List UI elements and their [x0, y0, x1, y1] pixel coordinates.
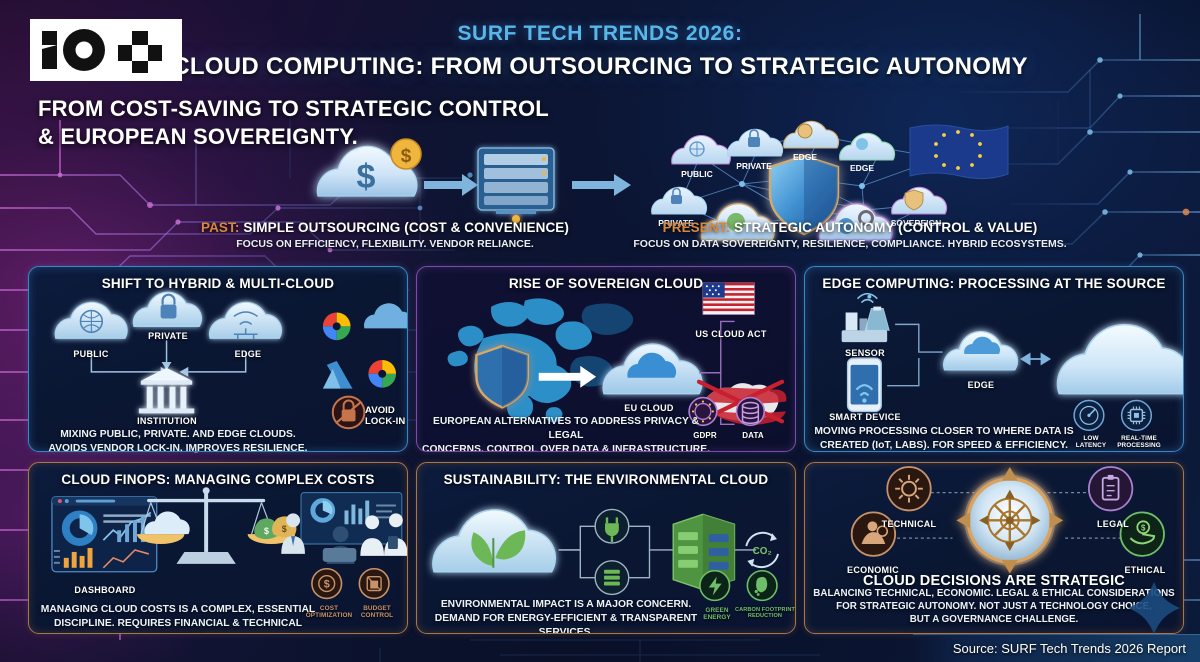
card-2-description: EUROPEAN ALTERNATIVES TO ADDRESS PRIVACY… [421, 415, 711, 452]
card-4-description: MANAGING CLOUD COSTS IS A COMPLEX, ESSEN… [33, 603, 323, 634]
svg-text:$: $ [324, 579, 330, 591]
present-sub: FOCUS ON DATA SOVEREIGNTY, RESILIENCE, C… [600, 238, 1100, 250]
present-headline: STRATEGIC AUTONOMY (CONTROL & VALUE) [730, 220, 1037, 235]
hero-label-public: PUBLIC [681, 169, 713, 179]
source-text: Source: SURF Tech Trends 2026 Report [953, 641, 1186, 656]
card-1-badge-avoid-lockin: AVOID LOCK-IN [365, 406, 408, 428]
subtitle-line-1: FROM COST-SAVING TO STRATEGIC CONTROL [38, 95, 549, 123]
caption-present: PRESENT: STRATEGIC AUTONOMY (CONTROL & V… [600, 220, 1100, 250]
svg-text:$: $ [264, 526, 269, 536]
card-5-description: ENVIRONMENTAL IMPACT IS A MAJOR CONCERN.… [421, 598, 711, 634]
card-1-label-private: PRIVATE [148, 331, 188, 341]
card-3-label-sensor: SENSOR [845, 348, 885, 358]
card-1-label-institution: INSTITUTION [137, 416, 197, 426]
card-3-badge-realtime-processing: REAL-TIME PROCESSING [1111, 433, 1167, 450]
past-headline: SIMPLE OUTSOURCING (COST & CONVENIENCE) [239, 220, 569, 235]
card-3-artwork [805, 267, 1183, 451]
card-4-badge-budget-control: BUDGET CONTROL [349, 603, 405, 620]
card-1-label-public: PUBLIC [73, 349, 108, 359]
card-6-description: BALANCING TECHNICAL, ECONOMIC. LEGAL & E… [807, 587, 1181, 627]
card-3-label-smart-device: SMART DEVICE [829, 412, 901, 422]
card-6-label-technical: TECHNICAL [882, 519, 937, 529]
past-tag: PAST: [201, 220, 240, 235]
card-shift-hybrid-multicloud[interactable]: SHIFT TO HYBRID & MULTI-CLOUD [28, 266, 408, 452]
past-sub: FOCUS ON EFFICIENCY, FLEXIBILITY. VENDOR… [175, 238, 595, 250]
card-6-label-legal: LEGAL [1097, 519, 1129, 529]
card-cloud-finops[interactable]: CLOUD FINOPS: MANAGING COMPLEX COSTS [28, 462, 408, 634]
card-2-label-us-cloud-act: US CLOUD ACT [695, 329, 766, 339]
svg-text:$: $ [282, 524, 287, 534]
card-edge-computing[interactable]: EDGE COMPUTING: PROCESSING AT THE SOURCE [804, 266, 1184, 452]
card-1-artwork [29, 267, 407, 451]
card-1-label-edge: EDGE [235, 349, 262, 359]
card-2-badge-data: DATA [725, 429, 781, 440]
corner-diamond-decoration [1126, 580, 1182, 636]
caption-past: PAST: SIMPLE OUTSOURCING (COST & CONVENI… [175, 220, 595, 250]
hero-label-edge-1: EDGE [793, 152, 817, 162]
hero-label-edge-2: EDGE [850, 163, 874, 173]
card-2-label-eu-cloud: EU CLOUD [624, 403, 673, 413]
subtitle-line-2: & EUROPEAN SOVEREIGNTY. [38, 123, 549, 151]
card-1-description: MIXING PUBLIC, PRIVATE. AND EDGE CLOUDS.… [33, 428, 323, 452]
surf-logo [30, 19, 182, 81]
svg-text:$: $ [1141, 524, 1146, 533]
svg-text:$: $ [357, 158, 376, 196]
card-5-badge-carbon-footprint-reduction: CARBON FOOTPRINT REDUCTION [733, 605, 796, 620]
svg-text:CO₂: CO₂ [753, 546, 772, 557]
source-bar: Source: SURF Tech Trends 2026 Report [913, 634, 1200, 662]
card-sustainability[interactable]: SUSTAINABILITY: THE ENVIRONMENTAL CLOUD [416, 462, 796, 634]
card-4-label-dashboard: DASHBOARD [74, 585, 135, 595]
card-3-description: MOVING PROCESSING CLOSER TO WHERE DATA I… [809, 425, 1079, 452]
card-3-label-edge: EDGE [968, 380, 995, 390]
present-tag: PRESENT: [663, 220, 731, 235]
hero-label-private-1: PRIVATE [736, 161, 772, 171]
card-rise-sovereign-cloud[interactable]: RISE OF SOVEREIGN CLOUD [416, 266, 796, 452]
page-subtitle: FROM COST-SAVING TO STRATEGIC CONTROL & … [38, 95, 549, 150]
